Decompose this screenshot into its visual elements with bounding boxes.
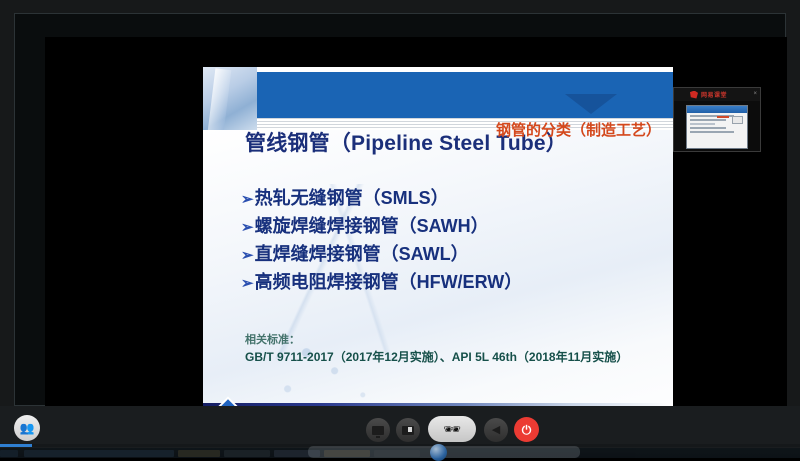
video-stage: 管线钢管（Pipeline Steel Tube） 钢管的分类（制造工艺） ➢ … (45, 37, 787, 414)
volume-button[interactable]: ◀ (484, 418, 508, 442)
list-item: ➢ 直焊缝焊接钢管（SAWL） (241, 241, 663, 269)
slide-corner-tag: 钢管的分类（制造工艺） (496, 119, 661, 140)
pip-inner-title-bar (687, 106, 747, 113)
pip-inner-accent (717, 116, 729, 118)
leave-meeting-button[interactable]: ⏻ (514, 417, 539, 442)
presenter-pointer-icon: 🕶 (443, 422, 461, 436)
references-body: GB/T 9711-2017（2017年12月实施）、API 5L 46th（2… (245, 349, 657, 366)
windows-taskbar[interactable] (0, 448, 800, 458)
picture-in-picture-video[interactable]: 网易课堂 × (673, 87, 761, 152)
slide-header-band (257, 72, 673, 118)
pip-brand-label: 网易课堂 (701, 90, 727, 99)
screen-share-window: 管线钢管（Pipeline Steel Tube） 钢管的分类（制造工艺） ➢ … (0, 0, 800, 458)
references-label: 相关标准： (245, 331, 657, 347)
pip-title-bar: 网易课堂 × (674, 88, 760, 101)
pip-inner-row (690, 119, 726, 121)
list-item: ➢ 高频电阻焊接钢管（HFW/ERW） (241, 269, 663, 297)
taskbar-orb-icon[interactable] (430, 444, 447, 461)
participants-button[interactable]: 👥 (14, 415, 40, 441)
video-stage-border: 管线钢管（Pipeline Steel Tube） 钢管的分类（制造工艺） ➢ … (14, 13, 786, 406)
brand-logo-icon (690, 91, 698, 99)
speaker-icon: ◀ (492, 425, 500, 436)
taskbar-item[interactable] (24, 450, 174, 457)
people-icon: 👥 (20, 422, 35, 434)
pip-inner-row (690, 131, 734, 133)
list-item: ➢ 热轧无缝钢管（SMLS） (241, 185, 663, 213)
bullet-arrow-icon: ➢ (241, 188, 254, 211)
close-icon[interactable]: × (753, 91, 757, 97)
monitor-icon (372, 426, 384, 435)
shared-slide[interactable]: 管线钢管（Pipeline Steel Tube） 钢管的分类（制造工艺） ➢ … (203, 67, 673, 431)
power-icon: ⏻ (522, 424, 532, 436)
pip-inner-button (732, 116, 743, 124)
taskbar-item[interactable] (178, 450, 220, 457)
presenter-button[interactable]: 🕶 (428, 416, 476, 442)
bullet-arrow-icon: ➢ (241, 244, 254, 267)
chevron-decoration-icon (565, 94, 617, 114)
window-frame: 管线钢管（Pipeline Steel Tube） 钢管的分类（制造工艺） ➢ … (0, 0, 800, 458)
pip-inner-row (690, 127, 726, 129)
taskbar-item[interactable] (224, 450, 270, 457)
share-screen-button[interactable] (366, 418, 390, 442)
bullet-arrow-icon: ➢ (241, 272, 254, 295)
list-item-label: 直焊缝焊接钢管（SAWL） (255, 241, 469, 269)
folder-icon (402, 426, 414, 435)
pip-inner-row (690, 123, 715, 125)
playback-progress-fill (0, 444, 32, 447)
list-item-label: 高频电阻焊接钢管（HFW/ERW） (255, 269, 523, 297)
slide-bullet-list: ➢ 热轧无缝钢管（SMLS） ➢ 螺旋焊缝焊接钢管（SAWH） ➢ 直焊缝焊接钢… (241, 185, 663, 297)
list-item: ➢ 螺旋焊缝焊接钢管（SAWH） (241, 213, 663, 241)
share-file-button[interactable] (396, 418, 420, 442)
pip-inner-window (686, 105, 748, 149)
slide-references: 相关标准： GB/T 9711-2017（2017年12月实施）、API 5L … (245, 331, 657, 366)
list-item-label: 热轧无缝钢管（SMLS） (255, 185, 449, 213)
bullet-arrow-icon: ➢ (241, 216, 254, 239)
list-item-label: 螺旋焊缝焊接钢管（SAWH） (255, 213, 489, 241)
taskbar-start-button[interactable] (0, 450, 18, 457)
